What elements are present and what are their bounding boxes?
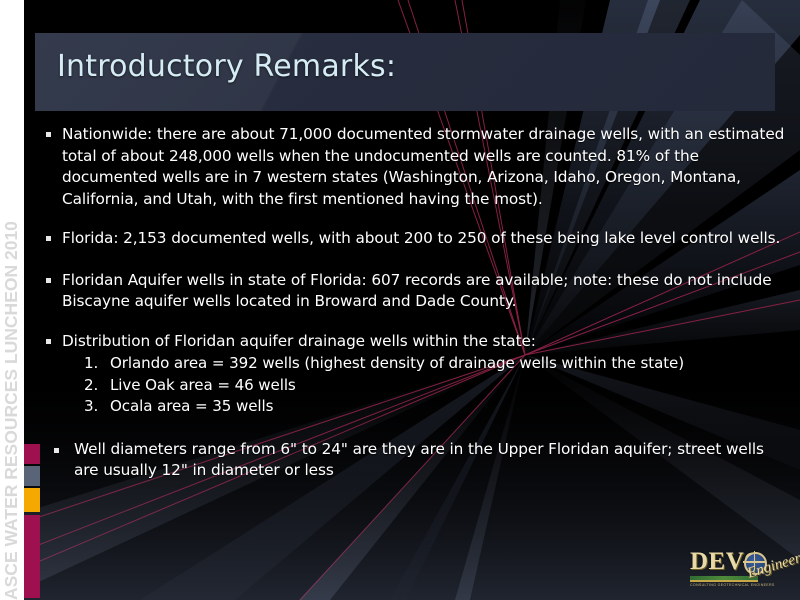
bullet-text: Well diameters range from 6" to 24" are …	[74, 439, 786, 482]
accent-bar-magenta-top	[24, 444, 40, 464]
list-index: 1.	[84, 353, 104, 375]
list-item: 1. Orlando area = 392 wells (highest den…	[44, 353, 786, 375]
list-item: 2. Live Oak area = 46 wells	[44, 375, 786, 397]
bullet-content: Nationwide: there are about 71,000 docum…	[44, 124, 786, 493]
slide-canvas: Introductory Remarks: Nationwide: there …	[0, 0, 800, 600]
bullet-row: Well diameters range from 6" to 24" are …	[44, 439, 786, 482]
numbered-sublist: 1. Orlando area = 392 wells (highest den…	[44, 353, 786, 418]
bullet-row: Floridan Aquifer wells in state of Flori…	[44, 270, 786, 313]
bullet-block-2: Florida: 2,153 documented wells, with ab…	[44, 228, 786, 250]
page-title: Introductory Remarks:	[57, 49, 396, 84]
list-item-label: Orlando area = 392 wells (highest densit…	[110, 354, 684, 372]
sidebar: ASCE WATER RESOURCES LUNCHEON 2010	[0, 0, 22, 600]
logo-gold-rule	[690, 580, 758, 582]
square-bullet-icon	[46, 278, 51, 283]
logo-subtitle: CONSULTING GEOTECHNICAL ENGINEERS	[690, 583, 775, 587]
list-index: 2.	[84, 375, 104, 397]
bullet-block-4: Distribution of Floridan aquifer drainag…	[44, 331, 786, 418]
devo-logo: DEVO Engineering CONSULTING GEOTECHNICAL…	[688, 546, 796, 594]
bullet-text: Distribution of Floridan aquifer drainag…	[62, 331, 786, 353]
square-bullet-icon	[46, 132, 51, 137]
accent-bar-orange	[24, 488, 40, 512]
sidebar-event-label: ASCE WATER RESOURCES LUNCHEON 2010	[0, 0, 22, 600]
sidebar-accent-bars	[24, 0, 40, 600]
bullet-text: Floridan Aquifer wells in state of Flori…	[62, 270, 786, 313]
bullet-text: Nationwide: there are about 71,000 docum…	[62, 124, 786, 210]
title-bar: Introductory Remarks:	[35, 33, 775, 111]
accent-bar-slate	[24, 466, 40, 486]
bullet-block-1: Nationwide: there are about 71,000 docum…	[44, 124, 786, 210]
square-bullet-icon	[46, 339, 51, 344]
bullet-text: Florida: 2,153 documented wells, with ab…	[62, 228, 786, 250]
list-index: 3.	[84, 396, 104, 418]
bullet-block-3: Floridan Aquifer wells in state of Flori…	[44, 270, 786, 313]
bullet-row: Florida: 2,153 documented wells, with ab…	[44, 228, 786, 250]
accent-bar-magenta-long	[24, 515, 40, 598]
bullet-row: Distribution of Floridan aquifer drainag…	[44, 331, 786, 353]
bullet-block-5: Well diameters range from 6" to 24" are …	[44, 439, 786, 482]
list-item: 3. Ocala area = 35 wells	[44, 396, 786, 418]
list-item-label: Live Oak area = 46 wells	[110, 376, 296, 394]
bullet-row: Nationwide: there are about 71,000 docum…	[44, 124, 786, 210]
square-bullet-icon	[46, 236, 51, 241]
list-item-label: Ocala area = 35 wells	[110, 397, 273, 415]
square-bullet-icon	[54, 448, 59, 453]
